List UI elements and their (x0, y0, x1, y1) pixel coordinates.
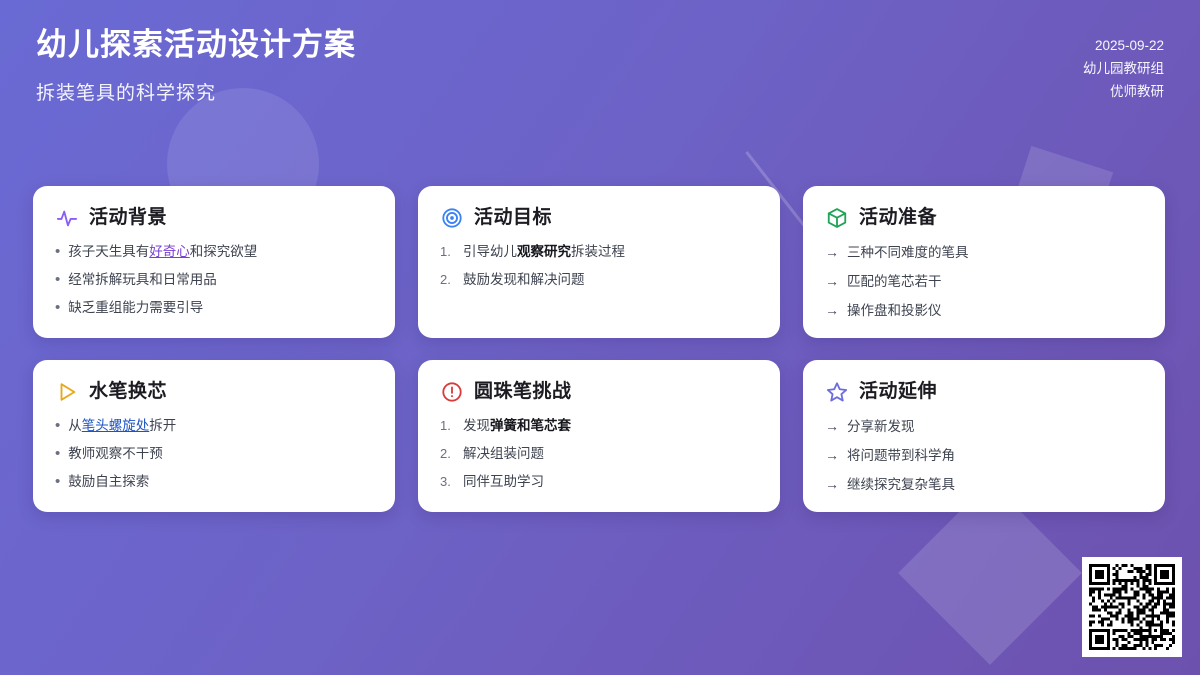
card-header: 圆珠笔挑战 (440, 380, 758, 403)
list-item: →继续探究复杂笔具 (825, 475, 1143, 494)
list-item: •经常拆解玩具和日常用品 (55, 271, 373, 289)
list-marker: 1. (440, 243, 455, 261)
list-item: →操作盘和投影仪 (825, 301, 1143, 320)
plain-text: 解决组装问题 (463, 446, 544, 461)
list-item: •孩子天生具有好奇心和探究欲望 (55, 243, 373, 261)
plain-text: 从 (68, 418, 82, 433)
list-marker: • (55, 418, 60, 433)
list-item-text: 继续探究复杂笔具 (847, 476, 1143, 494)
meta-date: 2025-09-22 (1083, 34, 1164, 57)
list-item: →将问题带到科学角 (825, 446, 1143, 465)
card-header: 水笔换芯 (55, 380, 373, 403)
qr-code-canvas (1089, 564, 1175, 650)
list-marker: → (825, 301, 839, 320)
plain-text: 继续探究复杂笔具 (847, 477, 955, 492)
qr-code[interactable] (1082, 557, 1182, 657)
list-item: 1.发现弹簧和笔芯套 (440, 417, 758, 435)
card-list: →三种不同难度的笔具→匹配的笔芯若干→操作盘和投影仪 (825, 243, 1143, 321)
card-list: 1.引导幼儿观察研究拆装过程2.鼓励发现和解决问题 (440, 243, 758, 289)
plain-text: 将问题带到科学角 (847, 448, 955, 463)
star-outline-icon (825, 380, 848, 403)
list-item-text: 鼓励自主探索 (68, 473, 373, 491)
list-item: •教师观察不干预 (55, 445, 373, 463)
plain-text: 三种不同难度的笔具 (847, 245, 969, 260)
package-box-icon (825, 206, 848, 229)
plain-text: 教师观察不干预 (68, 446, 163, 461)
list-item: 1.引导幼儿观察研究拆装过程 (440, 243, 758, 261)
card-header: 活动目标 (440, 206, 758, 229)
plain-text: 孩子天生具有 (68, 244, 149, 259)
card-4: 水笔换芯•从笔头螺旋处拆开•教师观察不干预•鼓励自主探索 (33, 360, 395, 512)
plain-text: 引导幼儿 (463, 244, 517, 259)
play-triangle-icon (55, 380, 78, 403)
list-marker: 2. (440, 271, 455, 289)
list-item-text: 引导幼儿观察研究拆装过程 (463, 243, 758, 261)
list-item-text: 缺乏重组能力需要引导 (68, 299, 373, 317)
slide-root: 幼儿探索活动设计方案 拆装笔具的科学探究 2025-09-22 幼儿园教研组 优… (0, 0, 1200, 675)
card-title: 活动目标 (474, 208, 552, 227)
card-5: 圆珠笔挑战1.发现弹簧和笔芯套2.解决组装问题3.同伴互助学习 (418, 360, 780, 512)
card-3: 活动准备→三种不同难度的笔具→匹配的笔芯若干→操作盘和投影仪 (803, 186, 1165, 338)
list-marker: → (825, 475, 839, 494)
plain-text: 缺乏重组能力需要引导 (68, 300, 203, 315)
plain-text: 鼓励自主探索 (68, 474, 149, 489)
list-item-text: 鼓励发现和解决问题 (463, 271, 758, 289)
list-marker: 3. (440, 473, 455, 491)
plain-text: 分享新发现 (847, 419, 915, 434)
card-list: 1.发现弹簧和笔芯套2.解决组装问题3.同伴互助学习 (440, 417, 758, 492)
list-item-text: 分享新发现 (847, 418, 1143, 436)
card-list: •从笔头螺旋处拆开•教师观察不干预•鼓励自主探索 (55, 417, 373, 492)
list-marker: → (825, 243, 839, 262)
page-title: 幼儿探索活动设计方案 (36, 26, 356, 65)
card-header: 活动延伸 (825, 380, 1143, 403)
list-item: 3.同伴互助学习 (440, 473, 758, 491)
list-item-text: 从笔头螺旋处拆开 (68, 417, 373, 435)
list-item-text: 匹配的笔芯若干 (847, 273, 1143, 291)
card-header: 活动背景 (55, 206, 373, 229)
list-marker: → (825, 446, 839, 465)
plain-text: 同伴互助学习 (463, 474, 544, 489)
list-item: 2.解决组装问题 (440, 445, 758, 463)
plain-text: 拆装过程 (571, 244, 625, 259)
title-block: 幼儿探索活动设计方案 拆装笔具的科学探究 (36, 26, 356, 105)
list-item: →三种不同难度的笔具 (825, 243, 1143, 262)
list-marker: • (55, 300, 60, 315)
list-item: •鼓励自主探索 (55, 473, 373, 491)
activity-pulse-icon (55, 206, 78, 229)
card-list: •孩子天生具有好奇心和探究欲望•经常拆解玩具和日常用品•缺乏重组能力需要引导 (55, 243, 373, 318)
page-subtitle: 拆装笔具的科学探究 (36, 78, 356, 105)
list-item-text: 发现弹簧和笔芯套 (463, 417, 758, 435)
slide-header: 幼儿探索活动设计方案 拆装笔具的科学探究 2025-09-22 幼儿园教研组 优… (0, 0, 1200, 150)
plain-text: 鼓励发现和解决问题 (463, 272, 585, 287)
meta-org: 幼儿园教研组 (1083, 57, 1164, 80)
target-icon (440, 206, 463, 229)
list-item: •从笔头螺旋处拆开 (55, 417, 373, 435)
list-item-text: 解决组装问题 (463, 445, 758, 463)
list-marker: 1. (440, 417, 455, 435)
list-item-text: 同伴互助学习 (463, 473, 758, 491)
list-marker: • (55, 474, 60, 489)
card-title: 水笔换芯 (89, 382, 167, 401)
card-1: 活动背景•孩子天生具有好奇心和探究欲望•经常拆解玩具和日常用品•缺乏重组能力需要… (33, 186, 395, 338)
list-marker: → (825, 417, 839, 436)
plain-text: 匹配的笔芯若干 (847, 274, 942, 289)
plain-text: 和探究欲望 (190, 244, 258, 259)
header-meta: 2025-09-22 幼儿园教研组 优师教研 (1083, 26, 1164, 104)
card-title: 活动背景 (89, 208, 167, 227)
meta-team: 优师教研 (1083, 80, 1164, 103)
plain-text: 拆开 (149, 418, 176, 433)
list-item: 2.鼓励发现和解决问题 (440, 271, 758, 289)
list-item-text: 三种不同难度的笔具 (847, 244, 1143, 262)
list-item-text: 经常拆解玩具和日常用品 (68, 271, 373, 289)
card-grid: 活动背景•孩子天生具有好奇心和探究欲望•经常拆解玩具和日常用品•缺乏重组能力需要… (33, 186, 1167, 512)
emphasis-text: 观察研究 (517, 244, 571, 259)
list-item-text: 教师观察不干预 (68, 445, 373, 463)
list-item: →分享新发现 (825, 417, 1143, 436)
list-item: •缺乏重组能力需要引导 (55, 299, 373, 317)
list-marker: → (825, 272, 839, 291)
plain-text: 经常拆解玩具和日常用品 (68, 272, 217, 287)
list-item-text: 将问题带到科学角 (847, 447, 1143, 465)
list-marker: 2. (440, 445, 455, 463)
card-2: 活动目标1.引导幼儿观察研究拆装过程2.鼓励发现和解决问题 (418, 186, 780, 338)
list-marker: • (55, 446, 60, 461)
plain-text: 操作盘和投影仪 (847, 303, 942, 318)
card-list: →分享新发现→将问题带到科学角→继续探究复杂笔具 (825, 417, 1143, 495)
card-6: 活动延伸→分享新发现→将问题带到科学角→继续探究复杂笔具 (803, 360, 1165, 512)
list-item: →匹配的笔芯若干 (825, 272, 1143, 291)
list-item-text: 操作盘和投影仪 (847, 302, 1143, 320)
card-title: 圆珠笔挑战 (474, 382, 572, 401)
inline-link[interactable]: 好奇心 (149, 244, 190, 259)
list-marker: • (55, 244, 60, 259)
plain-text: 发现 (463, 418, 490, 433)
card-title: 活动准备 (859, 208, 937, 227)
card-title: 活动延伸 (859, 382, 937, 401)
inline-link[interactable]: 笔头螺旋处 (82, 418, 150, 433)
list-item-text: 孩子天生具有好奇心和探究欲望 (68, 243, 373, 261)
card-header: 活动准备 (825, 206, 1143, 229)
alert-circle-icon (440, 380, 463, 403)
list-marker: • (55, 272, 60, 287)
emphasis-text: 弹簧和笔芯套 (490, 418, 571, 433)
